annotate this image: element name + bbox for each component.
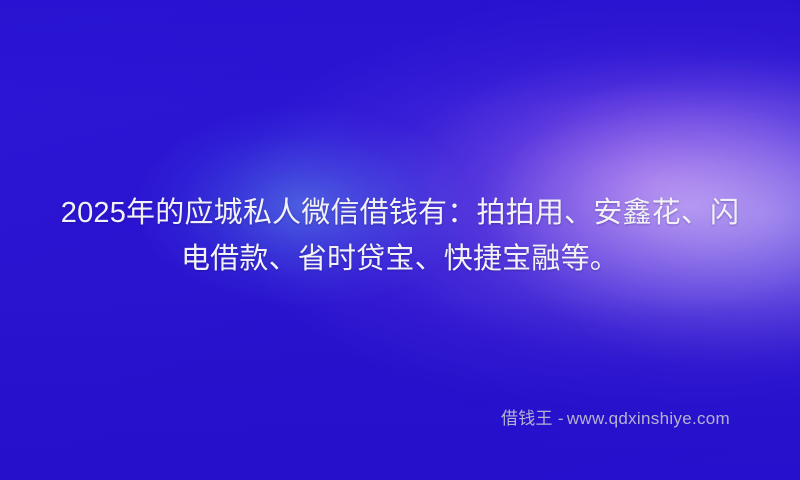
watermark-separator: - [558,409,564,428]
watermark-url: www.qdxinshiye.com [567,409,730,428]
banner-headline: 2025年的应城私人微信借钱有：拍拍用、安鑫花、闪电借款、省时贷宝、快捷宝融等。 [52,190,748,282]
promo-banner: 2025年的应城私人微信借钱有：拍拍用、安鑫花、闪电借款、省时贷宝、快捷宝融等。… [0,0,800,480]
watermark: 借钱王-www.qdxinshiye.com [0,408,730,430]
watermark-brand: 借钱王 [501,409,553,428]
